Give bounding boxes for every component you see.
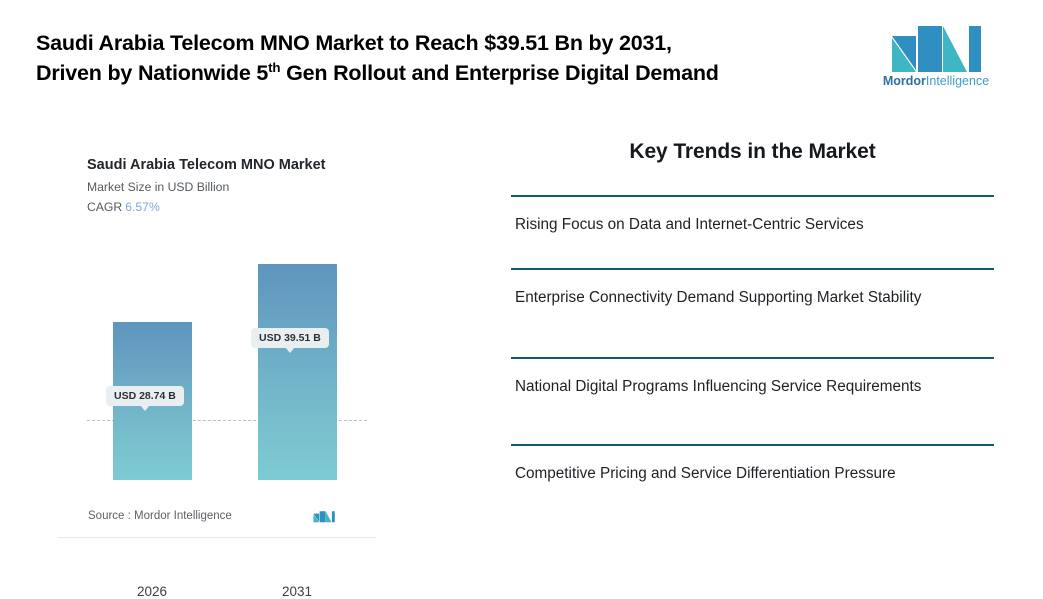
trend-item-label: Enterprise Connectivity Demand Supportin… <box>515 286 992 309</box>
chart-title: Saudi Arabia Telecom MNO Market <box>87 157 326 173</box>
chart-subtitle: Market Size in USD Billion <box>87 180 229 194</box>
trend-item[interactable]: National Digital Programs Influencing Se… <box>511 357 994 444</box>
trend-item-label: National Digital Programs Influencing Se… <box>515 375 992 398</box>
brand-name-intelligence: Intelligence <box>926 74 989 88</box>
brand-logo: MordorIntelligence <box>876 24 996 98</box>
page-title-line-2-post: Gen Rollout and Enterprise Digital Deman… <box>280 61 718 85</box>
bar-2031 <box>258 264 337 480</box>
mordor-logo-icon <box>886 24 986 72</box>
trend-item[interactable]: Enterprise Connectivity Demand Supportin… <box>511 268 994 357</box>
chart-source-text: Source : Mordor Intelligence <box>88 510 232 522</box>
x-axis-tick-2026: 2026 <box>112 584 192 599</box>
trend-item-label: Rising Focus on Data and Internet-Centri… <box>515 213 992 236</box>
page-title: Saudi Arabia Telecom MNO Market to Reach… <box>36 28 856 88</box>
page-title-line-2-pre: Driven by Nationwide 5 <box>36 61 268 85</box>
page-title-line-1: Saudi Arabia Telecom MNO Market to Reach… <box>36 31 672 55</box>
brand-logo-wordmark: MordorIntelligence <box>876 74 996 88</box>
chart-plot-area: USD 28.74 B USD 39.51 B 2026 2031 <box>58 228 376 480</box>
trend-item-label: Competitive Pricing and Service Differen… <box>515 462 992 485</box>
page-header: Saudi Arabia Telecom MNO Market to Reach… <box>0 0 1043 112</box>
brand-name-mordor: Mordor <box>883 74 926 88</box>
cagr-label: CAGR <box>87 200 122 214</box>
ordinal-suffix: th <box>268 60 280 75</box>
cagr-value: 6.57% <box>125 200 160 214</box>
trend-item[interactable]: Rising Focus on Data and Internet-Centri… <box>511 195 994 268</box>
bar-value-label-2026: USD 28.74 B <box>106 386 184 406</box>
bar-value-label-2031: USD 39.51 B <box>251 328 329 348</box>
key-trends-heading: Key Trends in the Market <box>511 140 994 164</box>
mordor-logo-small-icon <box>312 508 336 525</box>
trend-item[interactable]: Competitive Pricing and Service Differen… <box>511 444 994 514</box>
market-size-chart-card: Saudi Arabia Telecom MNO Market Market S… <box>58 128 376 538</box>
chart-cagr: CAGR6.57% <box>87 200 160 214</box>
x-axis-tick-2031: 2031 <box>257 584 337 599</box>
key-trends-panel: Key Trends in the Market Rising Focus on… <box>511 140 994 514</box>
